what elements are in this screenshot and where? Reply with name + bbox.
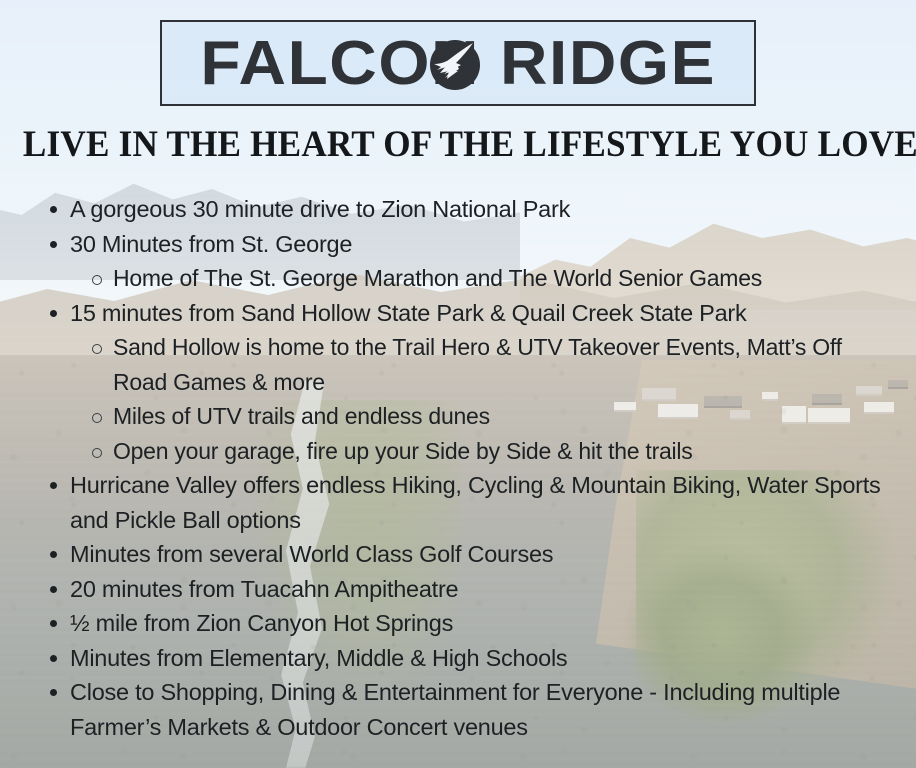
feature-bullet-text: Hurricane Valley offers endless Hiking, … <box>70 468 886 537</box>
feature-bullet-text: A gorgeous 30 minute drive to Zion Natio… <box>70 192 886 227</box>
feature-sub-bullet: Open your garage, fire up your Side by S… <box>40 434 886 469</box>
feature-bullet-text: Open your garage, fire up your Side by S… <box>113 434 886 469</box>
feature-sub-bullet: Miles of UTV trails and endless dunes <box>40 399 886 434</box>
feature-bullet-text: 15 minutes from Sand Hollow State Park &… <box>70 296 886 331</box>
brand-logo-box: FALCON RIDGE <box>160 20 756 106</box>
feature-bullet-text: 30 Minutes from St. George <box>70 227 886 262</box>
feature-bullet-text: Minutes from several World Class Golf Co… <box>70 537 886 572</box>
flyer-canvas: FALCON RIDGE LIVE IN THE HEART OF THE LI… <box>0 0 916 768</box>
feature-bullet-text: ½ mile from Zion Canyon Hot Springs <box>70 606 886 641</box>
feature-bullet: Minutes from Elementary, Middle & High S… <box>40 641 886 676</box>
feature-bullet: 30 Minutes from St. George <box>40 227 886 262</box>
feature-bullet-text: Home of The St. George Marathon and The … <box>113 261 886 296</box>
feature-bullet: ½ mile from Zion Canyon Hot Springs <box>40 606 886 641</box>
feature-bullet: Minutes from several World Class Golf Co… <box>40 537 886 572</box>
feature-bullet: Close to Shopping, Dining & Entertainmen… <box>40 675 886 744</box>
feature-bullet-text: Miles of UTV trails and endless dunes <box>113 399 886 434</box>
feature-sub-bullet: Home of The St. George Marathon and The … <box>40 261 886 296</box>
page-headline: LIVE IN THE HEART OF THE LIFESTYLE YOU L… <box>23 126 893 163</box>
feature-bullet-text: Sand Hollow is home to the Trail Hero & … <box>113 330 886 399</box>
feature-bullet: 20 minutes from Tuacahn Ampitheatre <box>40 572 886 607</box>
feature-bullet-text: 20 minutes from Tuacahn Ampitheatre <box>70 572 886 607</box>
feature-sub-bullet: Sand Hollow is home to the Trail Hero & … <box>40 330 886 399</box>
feature-bullet-text: Close to Shopping, Dining & Entertainmen… <box>70 675 886 744</box>
feature-bullet: 15 minutes from Sand Hollow State Park &… <box>40 296 886 331</box>
feature-bullet-text: Minutes from Elementary, Middle & High S… <box>70 641 886 676</box>
feature-bullet-list: A gorgeous 30 minute drive to Zion Natio… <box>40 192 886 744</box>
feature-bullet: Hurricane Valley offers endless Hiking, … <box>40 468 886 537</box>
feature-bullet: A gorgeous 30 minute drive to Zion Natio… <box>40 192 886 227</box>
brand-logo-text: FALCON RIDGE <box>200 31 716 95</box>
